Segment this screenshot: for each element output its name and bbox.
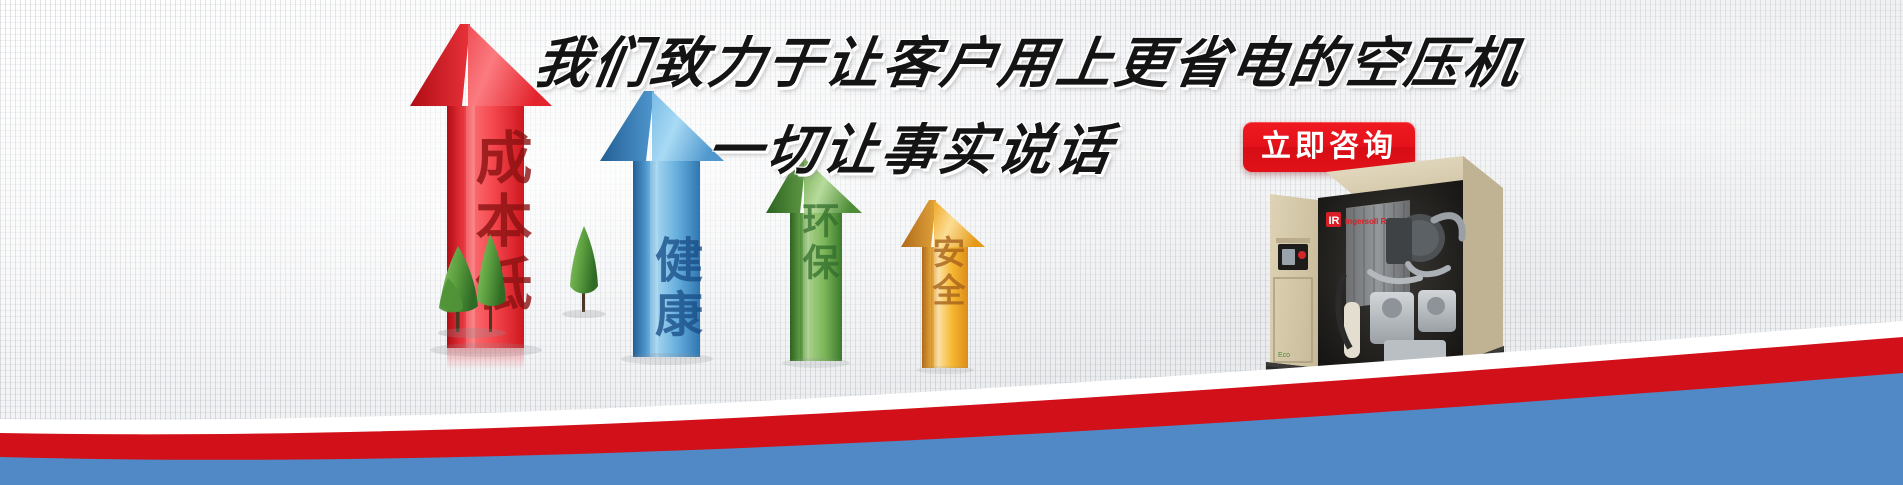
promo-banner: 成本低 [0, 0, 1903, 485]
svg-text:IR: IR [1329, 215, 1340, 227]
arrow-eco-label: 环保 [788, 201, 836, 285]
bottom-wave-ribbon [0, 315, 1903, 485]
arrow-safe-label: 安全 [919, 235, 963, 311]
wave-shapes [0, 315, 1903, 485]
